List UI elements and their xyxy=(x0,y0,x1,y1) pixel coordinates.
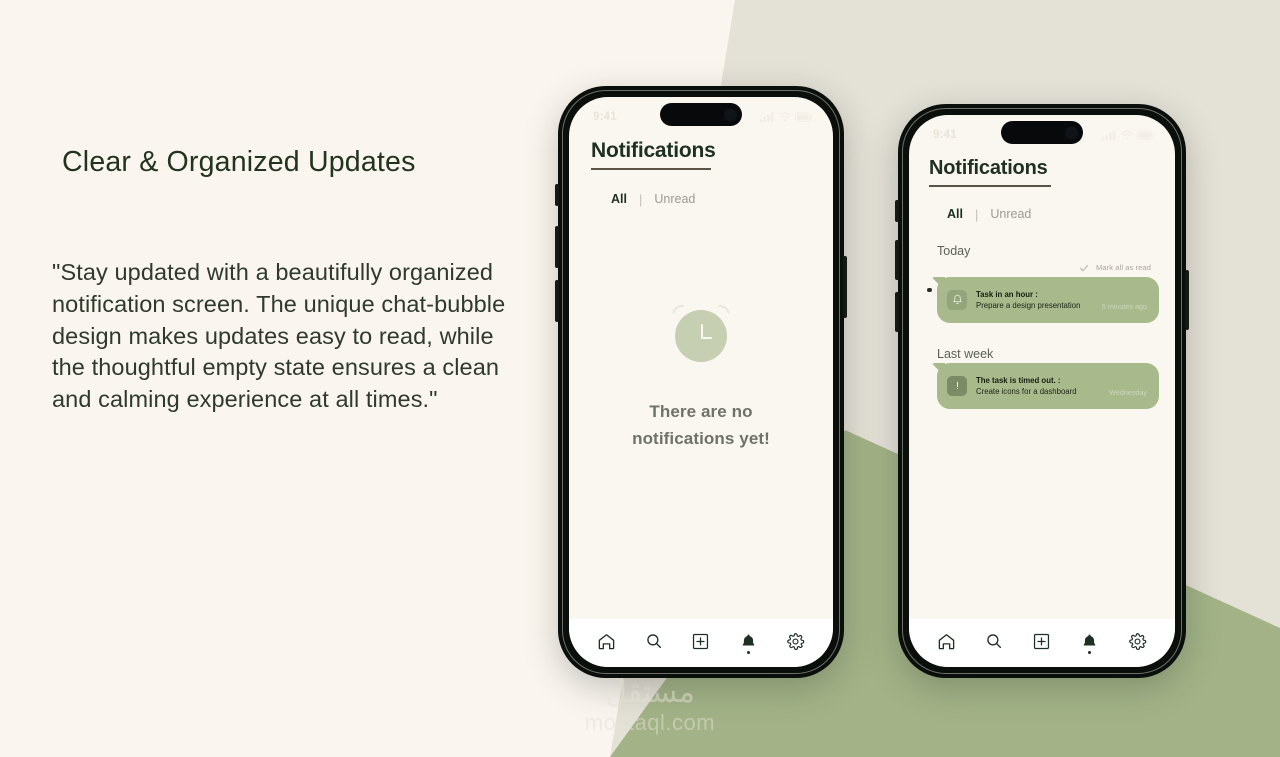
nav-notifications[interactable] xyxy=(1073,626,1107,656)
description-text: "Stay updated with a beautifully organiz… xyxy=(52,257,522,416)
group-label-today: Today xyxy=(925,244,1159,258)
phone-screen-right: 9:41 xyxy=(909,115,1175,667)
screen-title-right: Notifications xyxy=(909,149,1175,180)
notification-title: Task in an hour : xyxy=(976,289,1093,300)
nav-settings[interactable] xyxy=(778,626,812,656)
phone-mockup-empty-state: 9:41 xyxy=(558,86,844,678)
status-indicators xyxy=(1102,130,1155,140)
notification-indicator-dot xyxy=(747,651,750,654)
battery-icon xyxy=(795,112,813,122)
notification-bubble[interactable]: Task in an hour : Prepare a design prese… xyxy=(937,277,1159,323)
volume-up-button[interactable] xyxy=(555,226,559,268)
plus-square-icon xyxy=(691,632,710,651)
nav-search[interactable] xyxy=(637,626,671,656)
plus-square-icon xyxy=(1032,632,1051,651)
power-button[interactable] xyxy=(1185,270,1189,330)
bell-icon xyxy=(952,294,963,305)
bell-icon xyxy=(1081,632,1098,651)
empty-state: There are no notifications yet! xyxy=(569,302,833,452)
nav-add[interactable] xyxy=(1025,626,1059,656)
copy-column: Clear & Organized Updates "Stay updated … xyxy=(52,146,522,416)
nav-settings[interactable] xyxy=(1120,626,1154,656)
notification-row[interactable]: Task in an hour : Prepare a design prese… xyxy=(925,277,1159,323)
tab-all[interactable]: All xyxy=(947,207,963,221)
volume-down-button[interactable] xyxy=(895,292,899,332)
watermark-latin: mostaql.com xyxy=(560,710,740,736)
search-icon xyxy=(985,632,1003,650)
dynamic-island xyxy=(1001,121,1083,144)
notification-badge xyxy=(947,290,967,310)
phone-screen-left: 9:41 xyxy=(569,97,833,667)
group-label-last-week: Last week xyxy=(925,347,1159,361)
mark-all-as-read-button[interactable]: Mark all as read xyxy=(925,261,1159,275)
tab-unread[interactable]: Unread xyxy=(990,207,1031,221)
battery-icon xyxy=(1137,130,1155,140)
power-button[interactable] xyxy=(843,256,847,318)
screen-title-left: Notifications xyxy=(569,131,833,163)
page-title: Clear & Organized Updates xyxy=(62,146,522,179)
notification-timestamp: Wednesday xyxy=(1109,388,1147,398)
filter-tabs-right: All | Unread xyxy=(909,187,1175,222)
status-bar: 9:41 xyxy=(909,115,1175,149)
notification-row[interactable]: The task is timed out. : Create icons fo… xyxy=(925,363,1159,409)
bubble-tail xyxy=(931,363,945,377)
bubble-tail xyxy=(931,277,945,291)
tab-unread[interactable]: Unread xyxy=(654,192,695,206)
home-icon xyxy=(937,632,956,651)
notification-title: The task is timed out. : xyxy=(976,375,1100,386)
notification-list: Today Mark all as read xyxy=(909,222,1175,409)
bottom-nav-left xyxy=(569,619,833,667)
tab-separator: | xyxy=(975,207,978,222)
front-camera-lens xyxy=(1065,126,1078,139)
wifi-icon xyxy=(779,112,791,122)
tab-separator: | xyxy=(639,192,642,207)
silent-switch[interactable] xyxy=(555,184,559,206)
signal-bars-icon xyxy=(760,112,775,122)
watermark-arabic: مستقل xyxy=(560,676,740,710)
notification-subtitle: Create icons for a dashboard xyxy=(976,386,1100,397)
signal-bars-icon xyxy=(1102,130,1117,140)
check-icon xyxy=(1079,263,1089,273)
filter-tabs-left: All | Unread xyxy=(569,170,833,207)
unread-indicator-dot xyxy=(927,288,932,293)
notification-badge xyxy=(947,376,967,396)
notification-timestamp: 5 minutes ago xyxy=(1102,302,1147,312)
nav-home[interactable] xyxy=(930,626,964,656)
status-indicators xyxy=(760,112,813,122)
tab-all[interactable]: All xyxy=(611,192,627,206)
notification-content: The task is timed out. : Create icons fo… xyxy=(976,375,1100,397)
volume-up-button[interactable] xyxy=(895,240,899,280)
home-icon xyxy=(597,632,616,651)
bell-icon xyxy=(740,632,757,651)
nav-notifications[interactable] xyxy=(731,626,765,656)
gear-icon xyxy=(1128,632,1147,651)
status-time: 9:41 xyxy=(933,129,957,141)
nav-search[interactable] xyxy=(977,626,1011,656)
notification-content: Task in an hour : Prepare a design prese… xyxy=(976,289,1093,311)
alarm-clock-icon xyxy=(671,302,731,362)
notification-bubble[interactable]: The task is timed out. : Create icons fo… xyxy=(937,363,1159,409)
slide-canvas: Clear & Organized Updates "Stay updated … xyxy=(0,0,1280,757)
watermark: مستقل mostaql.com xyxy=(560,676,740,736)
status-bar: 9:41 xyxy=(569,97,833,131)
dynamic-island xyxy=(660,103,742,126)
exclamation-icon xyxy=(952,380,963,391)
wifi-icon xyxy=(1121,130,1133,140)
search-icon xyxy=(645,632,663,650)
bottom-nav-right xyxy=(909,619,1175,667)
clock-hand-minute xyxy=(701,337,712,339)
silent-switch[interactable] xyxy=(895,200,899,222)
phone-mockup-notification-list: 9:41 xyxy=(898,104,1186,678)
status-time: 9:41 xyxy=(593,111,617,123)
notification-indicator-dot xyxy=(1088,651,1091,654)
nav-add[interactable] xyxy=(684,626,718,656)
nav-home[interactable] xyxy=(590,626,624,656)
volume-down-button[interactable] xyxy=(555,280,559,322)
front-camera-lens xyxy=(724,108,737,121)
empty-state-message: There are no notifications yet! xyxy=(606,398,796,452)
mark-all-as-read-label: Mark all as read xyxy=(1096,263,1151,272)
notification-subtitle: Prepare a design presentation xyxy=(976,300,1093,311)
gear-icon xyxy=(786,632,805,651)
